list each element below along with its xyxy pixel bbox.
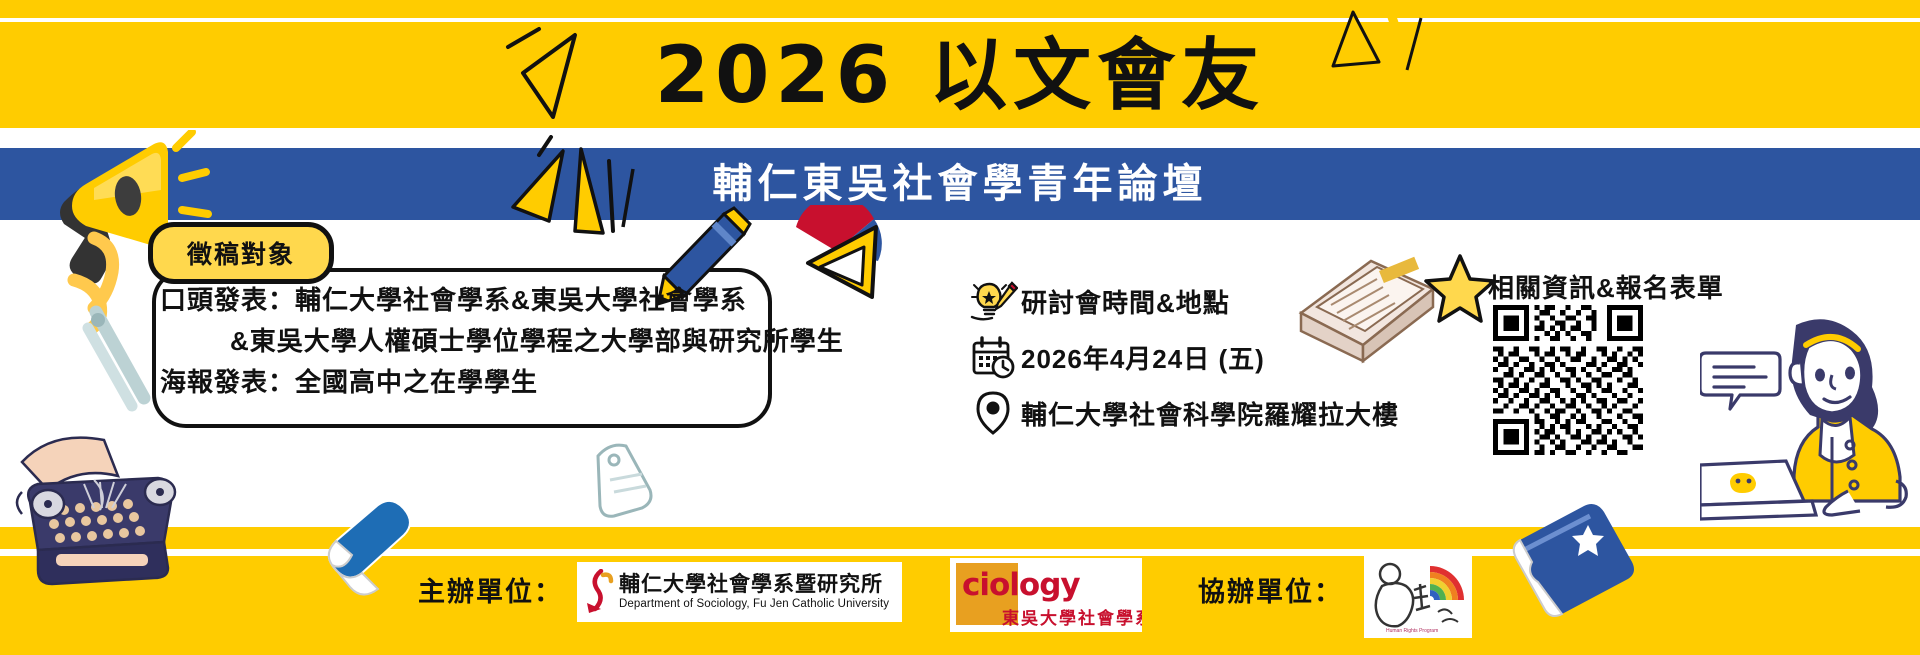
cfp-line-oral: 口頭發表：輔仁大學社會學系&東吳大學社會學系: [160, 280, 780, 321]
event-date: 2026年4月24日 (五): [1021, 339, 1265, 376]
eraser-icon: [318, 495, 423, 610]
soochow-sociology-logo: ciology 東吳大學社會學系: [950, 558, 1142, 632]
typewriter-icon: [8, 418, 208, 598]
poster-subtitle: 輔仁東吳社會學青年論壇: [0, 155, 1920, 213]
event-date-row: 2026年4月24日 (五): [965, 334, 1425, 380]
fu-jen-sociology-logo: 輔仁大學社會學系暨研究所 Department of Sociology, Fu…: [577, 562, 902, 622]
woman-laptop-illustration: [1700, 305, 1920, 527]
fu-jen-logo-en: Department of Sociology, Fu Jen Catholic…: [619, 597, 889, 612]
host-label: 主辦單位：: [418, 570, 563, 609]
tag-icon: [588, 440, 658, 520]
lightbulb-pencil-icon: [965, 279, 1021, 323]
event-info-column: 研討會時間&地點 2026年4月24日 (五): [965, 278, 1425, 446]
event-venue: 輔仁大學社會科學院羅耀拉大樓: [1021, 395, 1399, 432]
sparkle-icon: [505, 135, 655, 240]
event-info-heading-row: 研討會時間&地點: [965, 278, 1425, 324]
poster-banner: 2026 以文會友 輔仁東吳社會學青年論壇: [0, 0, 1920, 655]
svg-text:Human Rights Program: Human Rights Program: [1386, 628, 1438, 634]
human-rights-program-logo: Human Rights Program: [1364, 556, 1472, 638]
sparkle-icon: [505, 25, 625, 145]
location-pin-icon: [965, 391, 1021, 435]
soochow-logo-cn: 東吳大學社會學系: [1002, 604, 1142, 629]
star-icon: [1422, 252, 1498, 326]
call-for-papers-lines: 口頭發表：輔仁大學社會學系&東吳大學社會學系 &東吳大學人權碩士學位學程之大學部…: [160, 280, 780, 403]
cfp-line-poster: 海報發表：全國高中之在學學生: [160, 362, 780, 403]
coorganizer-label: 協辦單位：: [1198, 570, 1343, 609]
event-info-heading: 研討會時間&地點: [1021, 283, 1230, 320]
cfp-line-oral-2: &東吳大學人權碩士學位學程之大學部與研究所學生: [160, 321, 780, 362]
registration-heading: 相關資訊&報名表單: [1488, 268, 1724, 305]
event-venue-row: 輔仁大學社會科學院羅耀拉大樓: [965, 390, 1425, 436]
top-yellow-band: [0, 0, 1920, 18]
ruler-icon: [790, 205, 900, 310]
registration-qr-code[interactable]: [1493, 305, 1643, 455]
fu-jen-logo-cn: 輔仁大學社會學系暨研究所: [619, 572, 889, 597]
soochow-logo-word: ciology: [962, 568, 1140, 602]
poster-title: 2026 以文會友: [0, 26, 1920, 126]
book-icon: [1510, 500, 1640, 620]
sparkle-icon: [1325, 0, 1465, 145]
fu-jen-mark-icon: [577, 566, 619, 618]
call-for-papers-tag: 徵稿對象: [148, 222, 334, 284]
calendar-clock-icon: [965, 335, 1021, 379]
